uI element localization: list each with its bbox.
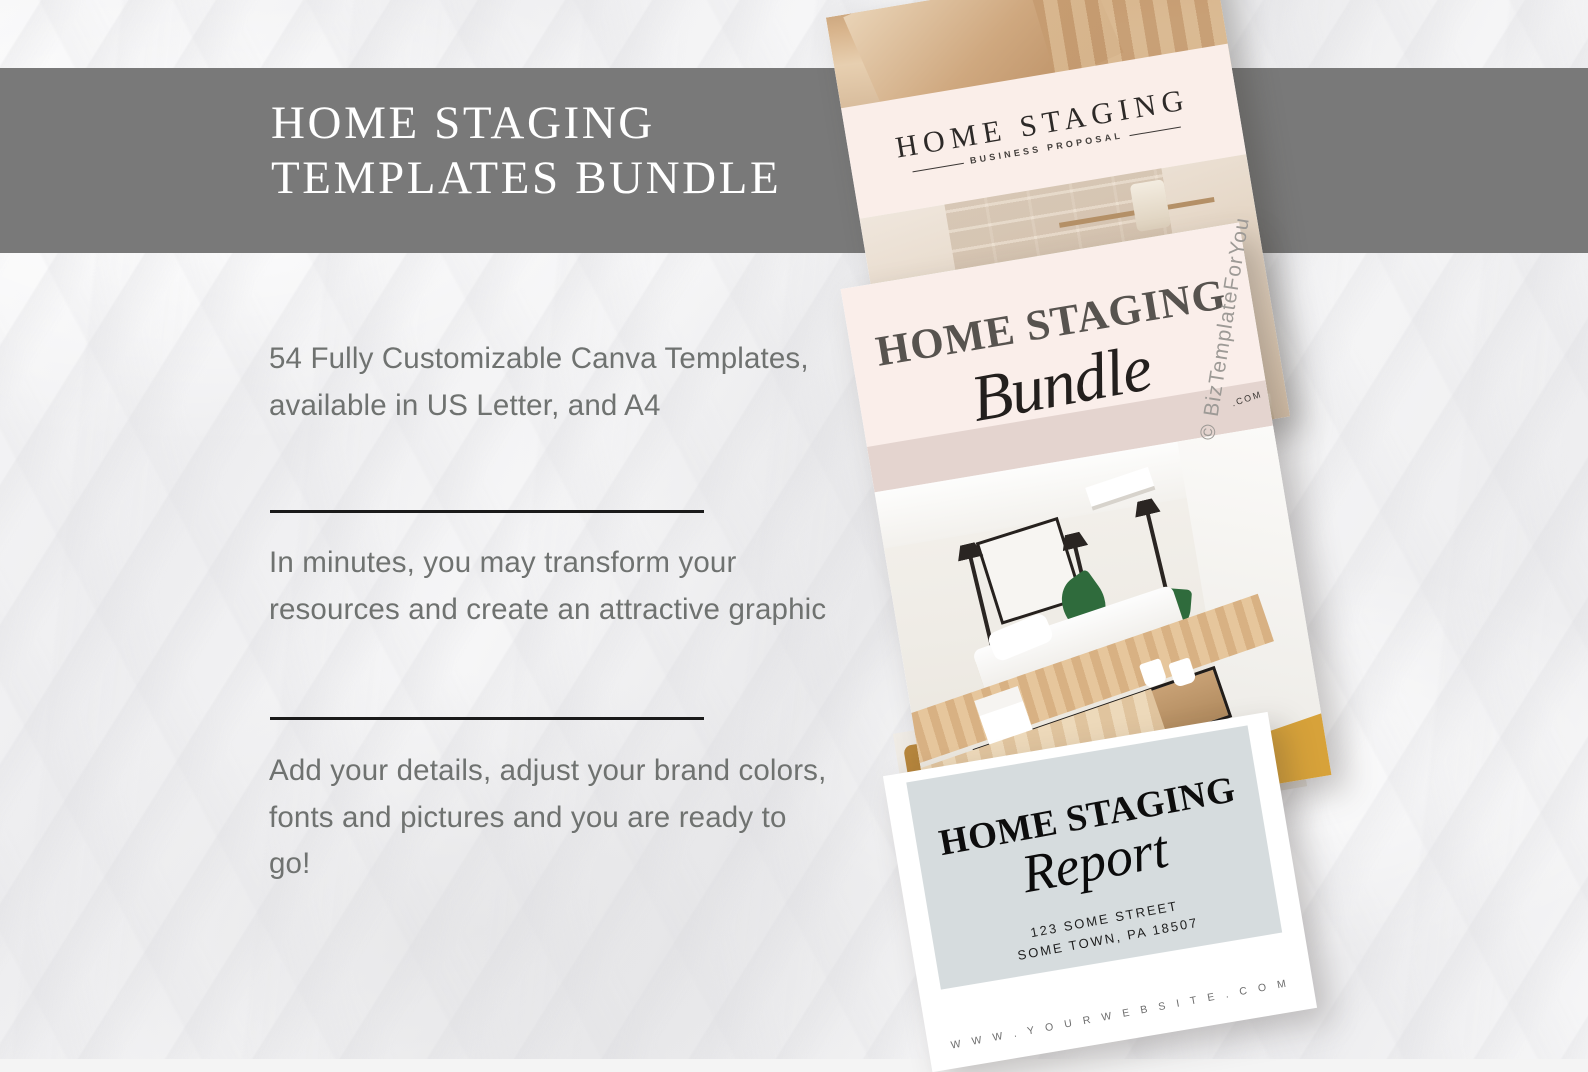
card3-website: W W W . Y O U R W E B S I T E . C O M: [928, 973, 1314, 1056]
mockup-card-report[interactable]: HOME STAGING Report 123 SOME STREET SOME…: [883, 712, 1317, 1072]
glass-jar: [1129, 179, 1170, 232]
template-mockup-stack: HOME STAGING BUSINESS PROPOSAL HOME STAG…: [0, 0, 1588, 1059]
